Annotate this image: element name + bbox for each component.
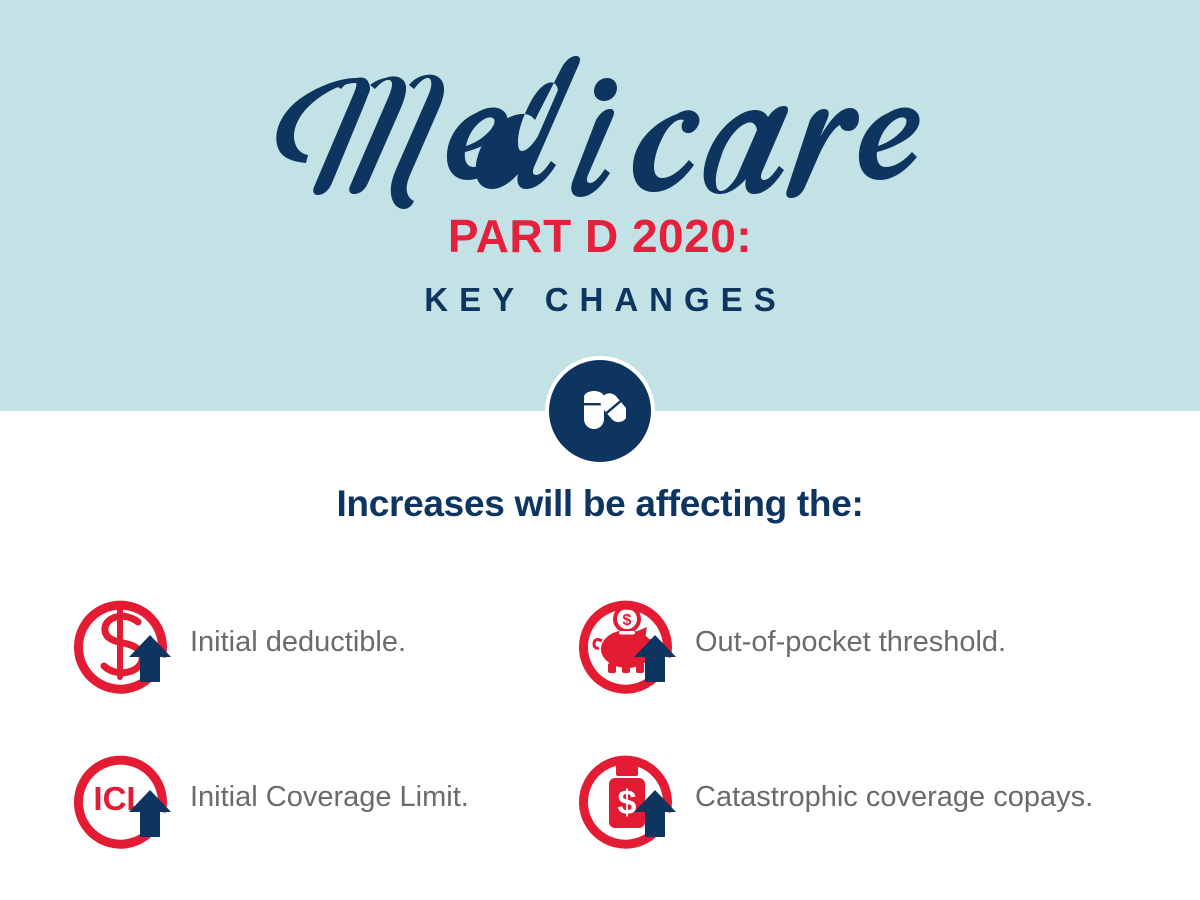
piggy-bank-circle-up-arrow-icon: $ — [575, 587, 687, 699]
kicker: KEY CHANGES — [0, 283, 1200, 316]
svg-text:$: $ — [618, 784, 637, 822]
list-item-label: Out-of-pocket threshold. — [695, 627, 1006, 659]
infographic-page: Medicare — [0, 0, 1200, 900]
list-item-catastrophic-coverage-copays: $ Catastrophic coverage copays. — [575, 720, 1160, 875]
list-item-label: Initial Coverage Limit. — [190, 782, 469, 814]
pill-badge — [549, 360, 651, 462]
svg-text:$: $ — [623, 612, 632, 629]
pill-bottle-circle-up-arrow-icon: $ — [575, 742, 687, 854]
increase-items-grid: Initial deductible. $ — [70, 565, 1160, 875]
medicare-script-svg: Medicare — [270, 52, 930, 212]
item-row: Initial deductible. $ — [70, 565, 1160, 720]
list-item-label: Initial deductible. — [190, 627, 406, 659]
list-item-initial-coverage-limit: ICL Initial Coverage Limit. — [70, 720, 575, 875]
icl-circle-up-arrow-icon: ICL — [70, 742, 182, 854]
brand-wordmark: Medicare — [0, 52, 1200, 216]
section-heading: Increases will be affecting the: — [0, 482, 1200, 526]
list-item-out-of-pocket-threshold: $ — [575, 565, 1160, 720]
pill-capsule-icon — [574, 383, 626, 440]
dollar-sign-circle-up-arrow-icon — [70, 587, 182, 699]
item-row: ICL Initial Coverage Limit. — [70, 720, 1160, 875]
list-item-label: Catastrophic coverage copays. — [695, 782, 1093, 814]
subtitle: PART D 2020: — [0, 213, 1200, 259]
list-item-initial-deductible: Initial deductible. — [70, 565, 575, 720]
